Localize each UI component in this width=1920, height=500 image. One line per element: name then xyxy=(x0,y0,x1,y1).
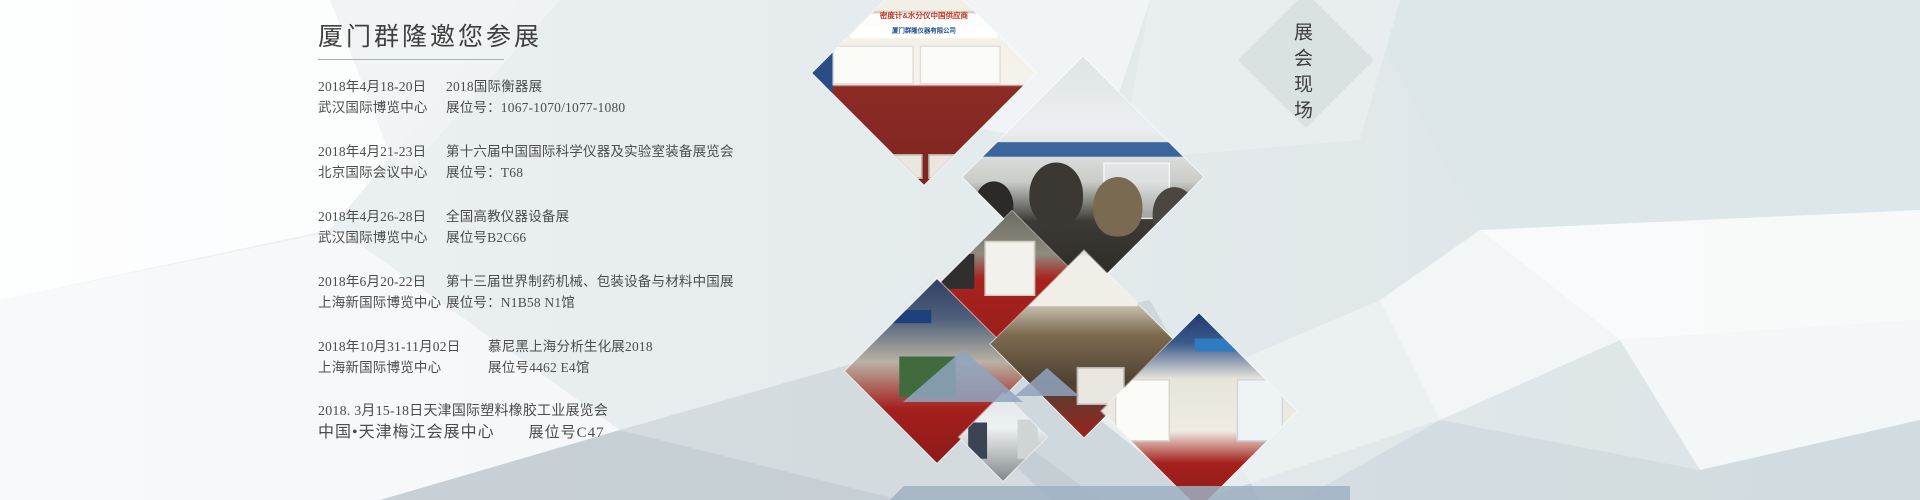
event-venue: 武汉国际博览中心 xyxy=(318,227,446,248)
event-venue: 上海新国际博览中心 xyxy=(318,292,446,313)
event-venue: 北京国际会议中心 xyxy=(318,162,446,183)
event-name: 全国高教仪器设备展 xyxy=(446,206,569,227)
title-underline xyxy=(318,59,504,60)
event-venue: 中国•天津梅江会展中心 xyxy=(318,422,495,443)
event-date: 2018年4月18-20日 xyxy=(318,76,446,97)
event-date: 2018年4月26-28日 xyxy=(318,206,446,227)
event-venue: 武汉国际博览中心 xyxy=(318,97,446,118)
event-date: 2018年10月31-11月02日 xyxy=(318,336,488,357)
event-date: 2018. 3月15-18日天津国际塑料橡胶工业展览会 xyxy=(318,401,608,422)
vertical-label-text: 展会现场 xyxy=(1288,22,1315,126)
event-booth: 展位号4462 E4馆 xyxy=(488,357,590,378)
event-booth: 展位号：N1B58 N1馆 xyxy=(446,292,575,313)
event-name: 第十六届中国国际科学仪器及实验室装备展览会 xyxy=(446,141,734,162)
event-booth: 展位号C47 xyxy=(529,423,605,444)
exhibition-banner: 厦门群隆邀您参展 2018年4月18-20日2018国际衡器展 武汉国际博览中心… xyxy=(0,0,1920,500)
event-booth: 展位号：1067-1070/1077-1080 xyxy=(446,97,625,118)
decor-triangle-large xyxy=(903,350,1023,402)
event-name: 第十三届世界制药机械、包装设备与材料中国展 xyxy=(446,271,734,292)
event-booth: 展位号：T68 xyxy=(446,162,523,183)
event-name: 慕尼黑上海分析生化展2018 xyxy=(488,336,653,357)
decor-bottom-bar xyxy=(890,486,1350,500)
event-booth: 展位号B2C66 xyxy=(446,227,526,248)
decor-triangle-small xyxy=(1015,368,1079,396)
event-date: 2018年4月21-23日 xyxy=(318,141,446,162)
event-name: 2018国际衡器展 xyxy=(446,76,542,97)
photo-collage: 密度计&水分仪中国供应商 厦门群隆仪器有限公司 xyxy=(830,0,1250,500)
booth-banner-line2: 厦门群隆仪器有限公司 xyxy=(851,27,998,36)
event-date: 2018年6月20-22日 xyxy=(318,271,446,292)
event-venue: 上海新国际博览中心 xyxy=(318,357,488,378)
